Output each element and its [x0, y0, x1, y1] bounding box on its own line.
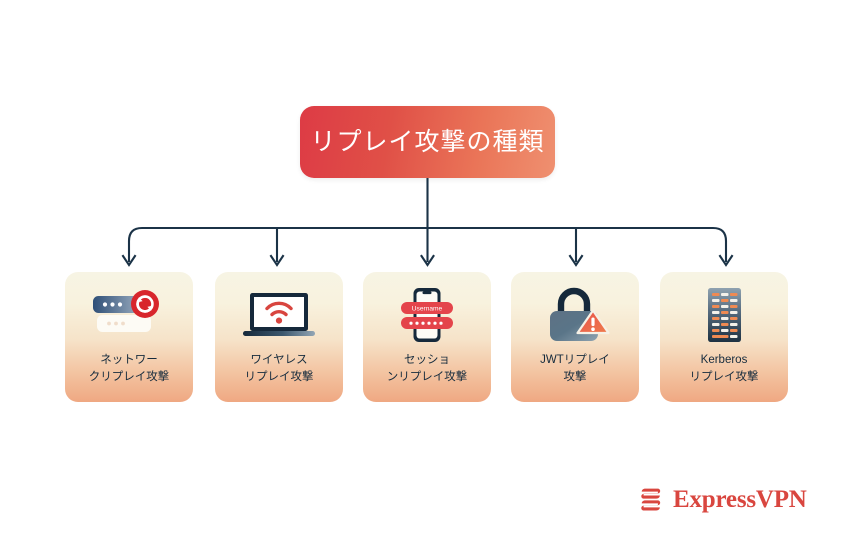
expressvpn-logo: ExpressVPN [636, 484, 807, 514]
diagram-node-label: JWTリプレイ 攻撃 [515, 352, 635, 386]
label-line-1: JWTリプレイ [540, 354, 610, 366]
label-line-2: ンリプレイ攻撃 [367, 369, 487, 386]
diagram-root-node: リプレイ攻撃の種類 [300, 106, 555, 178]
diagram-title: リプレイ攻撃の種類 [310, 130, 544, 155]
label-line-2: 攻撃 [515, 369, 635, 386]
diagram-node-jwt-replay: JWTリプレイ 攻撃 [511, 272, 639, 402]
diagram-node-label: ネットワー クリプレイ攻撃 [69, 352, 189, 386]
label-line-2: リプレイ攻撃 [664, 369, 784, 386]
server-rack-icon [660, 284, 788, 346]
diagram-node-network-replay: ネットワー クリプレイ攻撃 [65, 272, 193, 402]
label-line-2: クリプレイ攻撃 [69, 369, 189, 386]
expressvpn-logo-mark [636, 484, 666, 514]
label-line-1: Kerberos [701, 354, 748, 366]
diagram-node-session-replay: Username セッショ ンリプレイ攻撃 [363, 272, 491, 402]
network-router-replay-icon [65, 284, 193, 346]
label-line-1: ワイヤレス [250, 354, 307, 366]
laptop-wifi-icon [215, 284, 343, 346]
diagram-node-label: セッショ ンリプレイ攻撃 [367, 352, 487, 386]
label-line-1: セッショ [404, 354, 450, 366]
diagram-node-kerberos-replay: Kerberos リプレイ攻撃 [660, 272, 788, 402]
phone-login-credentials-icon: Username [363, 284, 491, 346]
diagram-node-label: Kerberos リプレイ攻撃 [664, 352, 784, 386]
diagram-node-wireless-replay: ワイヤレス リプレイ攻撃 [215, 272, 343, 402]
expressvpn-logo-text: ExpressVPN [673, 487, 807, 512]
label-line-2: リプレイ攻撃 [219, 369, 339, 386]
diagram-canvas: リプレイ攻撃の種類 [0, 0, 855, 560]
diagram-node-label: ワイヤレス リプレイ攻撃 [219, 352, 339, 386]
padlock-warning-icon [511, 284, 639, 346]
label-line-1: ネットワー [100, 354, 158, 366]
username-field-text: Username [412, 306, 443, 313]
